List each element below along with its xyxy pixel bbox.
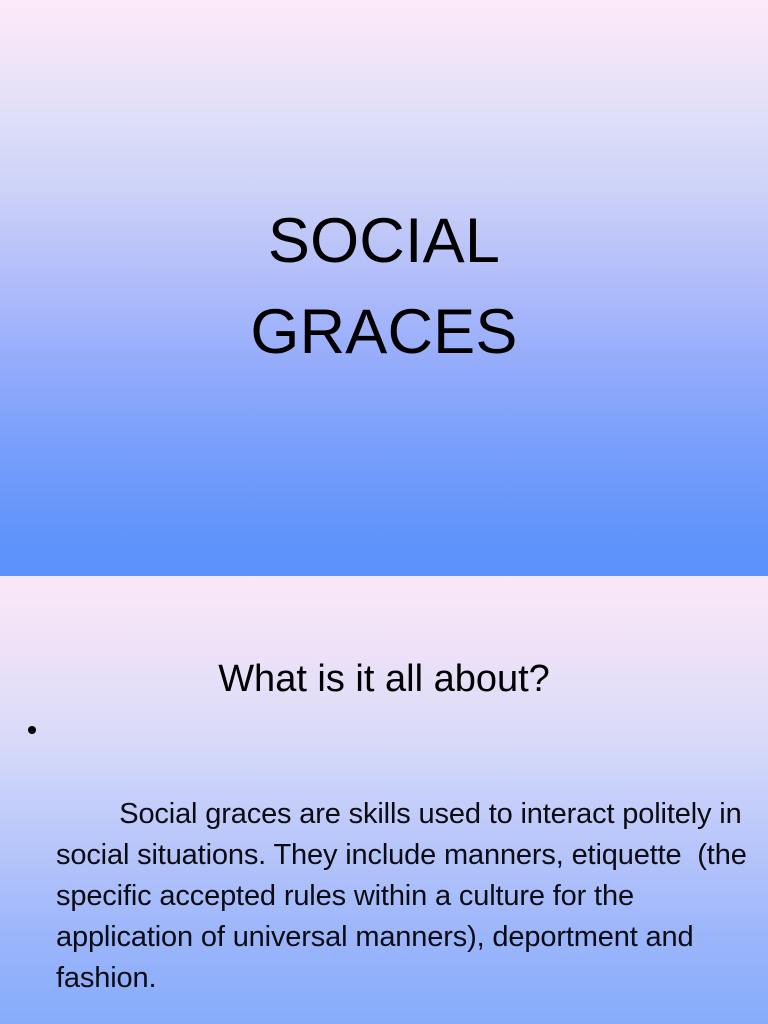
slide-deck: SOCIAL GRACES What is it all about? Soci… xyxy=(0,0,768,1024)
list-item-text: Social graces are skills used to interac… xyxy=(56,798,755,994)
bullet-list: Social graces are skills used to interac… xyxy=(22,712,748,1024)
list-item: Social graces are skills used to interac… xyxy=(22,712,748,1024)
title-line-1: SOCIAL xyxy=(0,196,768,287)
title-slide: SOCIAL GRACES xyxy=(0,0,768,576)
bullet-dot-icon xyxy=(28,726,36,734)
title-line-2: GRACES xyxy=(0,287,768,378)
content-slide: What is it all about? Social graces are … xyxy=(0,576,768,1024)
content-heading: What is it all about? xyxy=(0,656,768,702)
page-title: SOCIAL GRACES xyxy=(0,196,768,378)
